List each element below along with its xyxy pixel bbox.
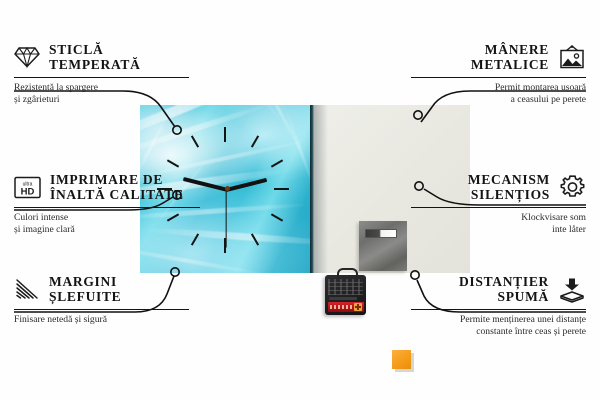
callout-sub-line2: a ceasului pe perete: [411, 94, 586, 105]
callout-sub-line1: Permit montarea ușoară: [411, 82, 586, 93]
foam-spacer-icon: [558, 277, 586, 302]
back-panel-shadow: [314, 105, 328, 273]
callout-title-line2: METALICE: [471, 57, 549, 72]
svg-text:HD: HD: [21, 186, 35, 197]
callout-sub-line1: Culori intense: [14, 212, 200, 223]
callout-rule: [14, 77, 189, 78]
clock-hub: [225, 186, 230, 191]
battery: [328, 302, 364, 312]
callout-rule: [14, 309, 189, 310]
diamond-icon: [14, 46, 40, 68]
callout-title-line2: ÎNALTĂ CALITATE: [50, 187, 184, 202]
callout-tempered-glass: STICLĂ TEMPERATĂ Rezistență la spargere …: [14, 42, 189, 105]
callout-title-line2: SILENȚIOS: [468, 187, 550, 202]
callout-metal-handles: MÂNERE METALICE Permit montarea ușoară a…: [411, 42, 586, 105]
callout-rule: [411, 77, 586, 78]
callout-title-line1: MARGINI: [49, 274, 121, 289]
callout-sub-line2: și zgârieturi: [14, 94, 189, 105]
mechanism-label: [328, 279, 363, 295]
callout-sub-line1: Finisare netedă și sigură: [14, 314, 189, 325]
callout-title-line2: ȘLEFUITE: [49, 289, 121, 304]
mechanism-slot: [329, 297, 357, 300]
hanger-slot: [365, 229, 397, 238]
callout-title-line1: MÂNERE: [471, 42, 549, 57]
callout-hd-print: ultra HD IMPRIMARE DE ÎNALTĂ CALITATE Cu…: [14, 172, 200, 235]
callout-foam-spacer: DISTANȚIER SPUMĂ Permite menținerea unei…: [411, 274, 586, 337]
callout-title-line1: IMPRIMARE DE: [50, 172, 184, 187]
mechanism-loop: [337, 268, 358, 279]
callout-sub-line1: Rezistență la spargere: [14, 82, 189, 93]
callout-rule: [411, 309, 586, 310]
callout-title-line2: SPUMĂ: [459, 289, 549, 304]
callout-title-line1: MECANISM: [468, 172, 550, 187]
clock-tick: [274, 188, 289, 190]
battery-label: [330, 305, 352, 309]
battery-plus-icon: [354, 303, 362, 311]
second-hand: [225, 189, 226, 247]
callout-rule: [411, 207, 586, 208]
gear-icon: [559, 174, 586, 200]
callout-sub-line2: inte låter: [411, 224, 586, 235]
infographic-canvas: STICLĂ TEMPERATĂ Rezistență la spargere …: [0, 0, 600, 400]
ultra-hd-icon: ultra HD: [14, 176, 41, 199]
callout-sub-line2: și imagine clară: [14, 224, 200, 235]
callout-polished-edges: MARGINI ȘLEFUITE Finisare netedă și sigu…: [14, 274, 189, 326]
clock-mechanism: [325, 275, 366, 315]
metal-hanger: [359, 221, 407, 271]
foam-spacer: [392, 350, 411, 369]
callout-title-line2: TEMPERATĂ: [49, 57, 141, 72]
callout-sub-line1: Klockvisare som: [411, 212, 586, 223]
callout-title-line1: STICLĂ: [49, 42, 141, 57]
callout-sub-line1: Permite menținerea unei distanțe: [411, 314, 586, 325]
callout-rule: [14, 207, 200, 208]
callout-title-line1: DISTANȚIER: [459, 274, 549, 289]
callout-silent-mechanism: MECANISM SILENȚIOS Klockvisare som inte …: [411, 172, 586, 235]
callout-sub-line2: constante între ceas și perete: [411, 326, 586, 337]
picture-hanger-icon: [558, 45, 586, 69]
polished-edge-icon: [14, 278, 40, 300]
clock-tick: [224, 127, 226, 142]
